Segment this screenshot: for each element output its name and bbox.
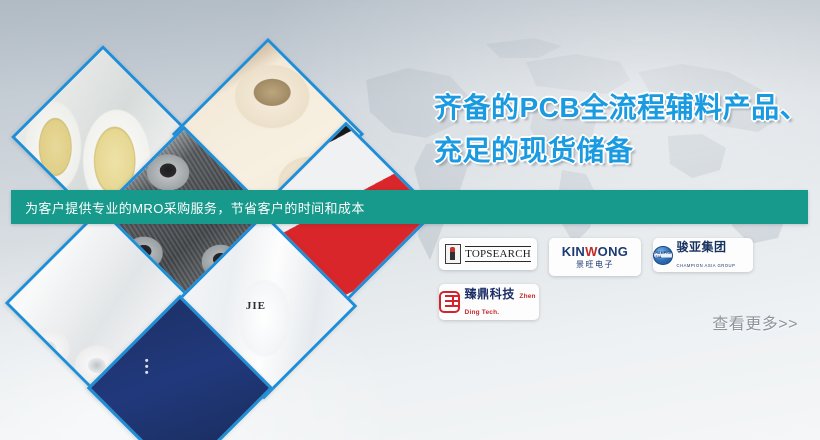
- zhen-ding-mark-icon: [439, 291, 460, 313]
- banner-headline: 齐备的PCB全流程辅料产品、 充足的现货储备: [434, 86, 820, 172]
- subtitle-text: 为客户提供专业的MRO采购服务，节省客户的时间和成本: [11, 198, 365, 217]
- view-more-link[interactable]: 查看更多>>: [712, 310, 798, 334]
- topsearch-label: TOPSEARCH: [465, 246, 531, 262]
- partner-logo-group: TOPSEARCH KINWONG 景旺电子 CHAMPION ASIA 骏亚集…: [439, 238, 819, 320]
- promo-banner: JIE 齐备的PCB全流程辅料产品、 充足的现货储备 为客户提供专业的MRO采购…: [0, 0, 820, 440]
- partner-logo-champion-asia[interactable]: CHAMPION ASIA 骏亚集团 CHAMPION ASIA GROUP: [653, 238, 753, 272]
- champion-asia-en-label: CHAMPION ASIA GROUP: [677, 263, 736, 268]
- film-brand-text: JIE: [246, 300, 266, 312]
- partner-logo-row-1: TOPSEARCH KINWONG 景旺电子 CHAMPION ASIA 骏亚集…: [439, 238, 819, 276]
- kinwong-wordmark: KINWONG: [562, 245, 628, 258]
- champion-asia-globe-icon: CHAMPION ASIA: [653, 246, 673, 265]
- kinwong-cn-label: 景旺电子: [562, 261, 628, 269]
- champion-asia-globe-text: CHAMPION ASIA: [653, 251, 673, 259]
- headline-line-2: 充足的现货储备: [434, 129, 820, 172]
- kinwong-en-left: KIN: [562, 244, 585, 259]
- zhen-ding-cn-label: 臻鼎科技: [465, 287, 515, 301]
- headline-line-1: 齐备的PCB全流程辅料产品、: [434, 92, 808, 123]
- kinwong-en-mid: W: [585, 244, 598, 259]
- topsearch-mark-icon: [445, 244, 461, 264]
- partner-logo-zhen-ding[interactable]: 臻鼎科技 Zhen Ding Tech.: [439, 284, 539, 320]
- navy-sheet-dots-icon: [142, 356, 149, 377]
- champion-asia-cn-label: 骏亚集团: [677, 240, 727, 254]
- subtitle-bar: 为客户提供专业的MRO采购服务，节省客户的时间和成本: [11, 190, 808, 224]
- kinwong-en-right: ONG: [598, 244, 629, 259]
- partner-logo-topsearch[interactable]: TOPSEARCH: [439, 238, 537, 270]
- partner-logo-kinwong[interactable]: KINWONG 景旺电子: [549, 238, 641, 276]
